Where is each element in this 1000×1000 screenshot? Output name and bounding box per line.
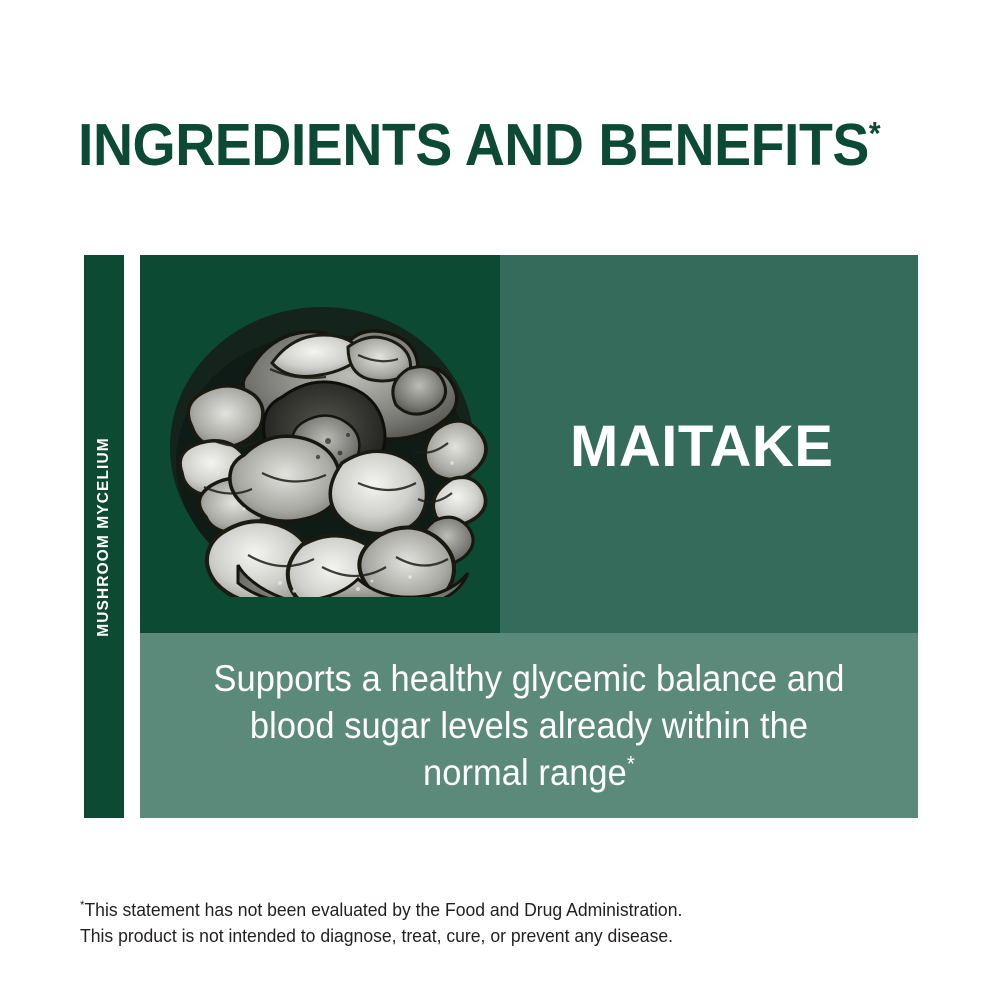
category-bar: MUSHROOM MYCELIUM <box>84 255 124 818</box>
ingredient-image-panel <box>140 255 500 633</box>
page-title-asterisk: * <box>869 115 880 151</box>
page-title-text: INGREDIENTS AND BENEFITS <box>78 112 869 178</box>
footer-disclaimer: *This statement has not been evaluated b… <box>80 897 802 949</box>
footer-line-1: *This statement has not been evaluated b… <box>80 897 802 923</box>
maitake-mushroom-photo <box>152 277 492 597</box>
page-title: INGREDIENTS AND BENEFITS* <box>78 114 880 176</box>
footer-line-1-text: This statement has not been evaluated by… <box>84 899 682 920</box>
benefit-text-body: Supports a healthy glycemic balance and … <box>213 658 844 793</box>
footer-line-2: This product is not intended to diagnose… <box>80 923 802 949</box>
ingredient-name-panel: MAITAKE <box>500 255 918 633</box>
benefit-text-asterisk: * <box>627 752 635 777</box>
category-bar-label: MUSHROOM MYCELIUM <box>95 437 113 637</box>
benefit-text: Supports a healthy glycemic balance and … <box>193 655 864 796</box>
ingredient-name: MAITAKE <box>570 413 833 480</box>
benefit-band: Supports a healthy glycemic balance and … <box>140 633 918 818</box>
ingredient-card: MAITAKE Supports a healthy glycemic bala… <box>140 255 918 818</box>
ingredient-card-top-row: MAITAKE <box>140 255 918 633</box>
